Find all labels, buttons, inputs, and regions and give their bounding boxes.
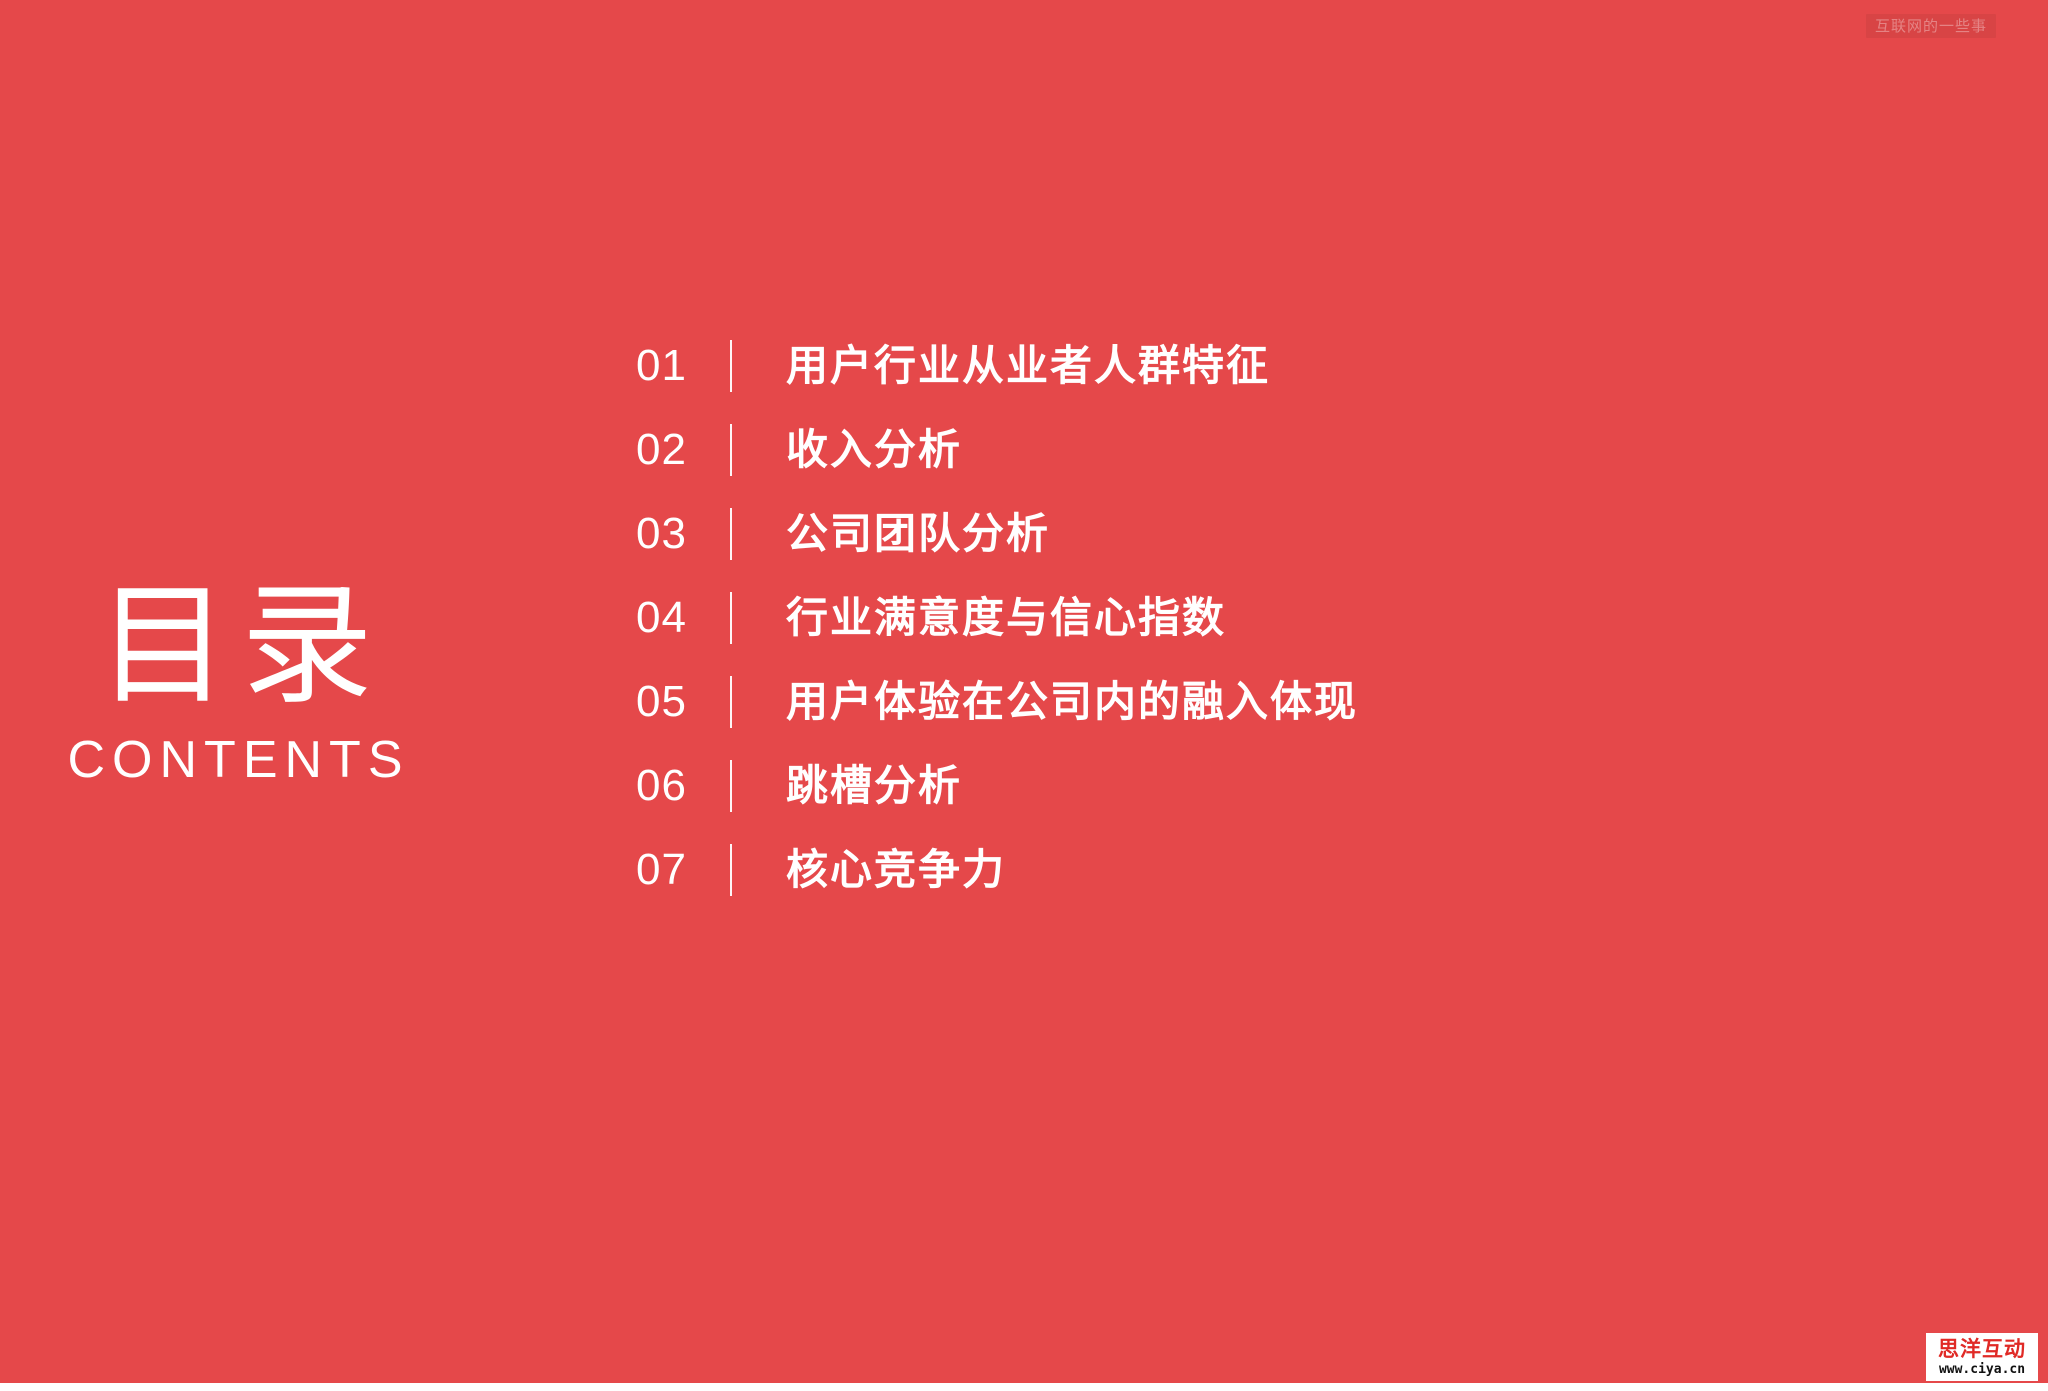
- list-item[interactable]: 03 公司团队分析: [636, 492, 1836, 576]
- toc-number: 04: [636, 596, 730, 640]
- toc-number: 01: [636, 344, 730, 388]
- table-of-contents: 01 用户行业从业者人群特征 02 收入分析 03 公司团队分析 04 行业满意…: [636, 324, 1836, 912]
- divider-line: [730, 760, 732, 812]
- toc-label: 用户体验在公司内的融入体现: [786, 681, 1358, 723]
- brand-logo-name: 思洋互动: [1930, 1339, 2034, 1360]
- list-item[interactable]: 05 用户体验在公司内的融入体现: [636, 660, 1836, 744]
- page-title-cn: 目录: [0, 580, 470, 712]
- toc-number: 06: [636, 764, 730, 808]
- bottom-border-strip: [0, 1383, 2048, 1391]
- list-item[interactable]: 04 行业满意度与信心指数: [636, 576, 1836, 660]
- list-item[interactable]: 07 核心竞争力: [636, 828, 1836, 912]
- divider-line: [730, 340, 732, 392]
- divider-line: [730, 844, 732, 896]
- list-item[interactable]: 01 用户行业从业者人群特征: [636, 324, 1836, 408]
- toc-number: 03: [636, 512, 730, 556]
- divider-line: [730, 592, 732, 644]
- list-item[interactable]: 02 收入分析: [636, 408, 1836, 492]
- watermark-label: 互联网的一些事: [1866, 14, 1996, 38]
- divider-line: [730, 676, 732, 728]
- brand-logo-url: www.ciya.cn: [1930, 1363, 2034, 1376]
- toc-label: 行业满意度与信心指数: [786, 597, 1226, 639]
- brand-logo[interactable]: 思洋互动 www.ciya.cn: [1926, 1333, 2038, 1381]
- toc-label: 公司团队分析: [786, 513, 1050, 555]
- toc-label: 跳槽分析: [786, 765, 962, 807]
- slide-canvas: 互联网的一些事 目录 CONTENTS 01 用户行业从业者人群特征 02 收入…: [0, 0, 2048, 1391]
- list-item[interactable]: 06 跳槽分析: [636, 744, 1836, 828]
- divider-line: [730, 508, 732, 560]
- toc-label: 核心竞争力: [786, 849, 1006, 891]
- toc-label: 用户行业从业者人群特征: [786, 345, 1270, 387]
- toc-label: 收入分析: [786, 429, 962, 471]
- toc-number: 05: [636, 680, 730, 724]
- page-title-en: CONTENTS: [0, 734, 470, 786]
- toc-number: 02: [636, 428, 730, 472]
- toc-number: 07: [636, 848, 730, 892]
- page-title: 目录 CONTENTS: [0, 580, 470, 786]
- divider-line: [730, 424, 732, 476]
